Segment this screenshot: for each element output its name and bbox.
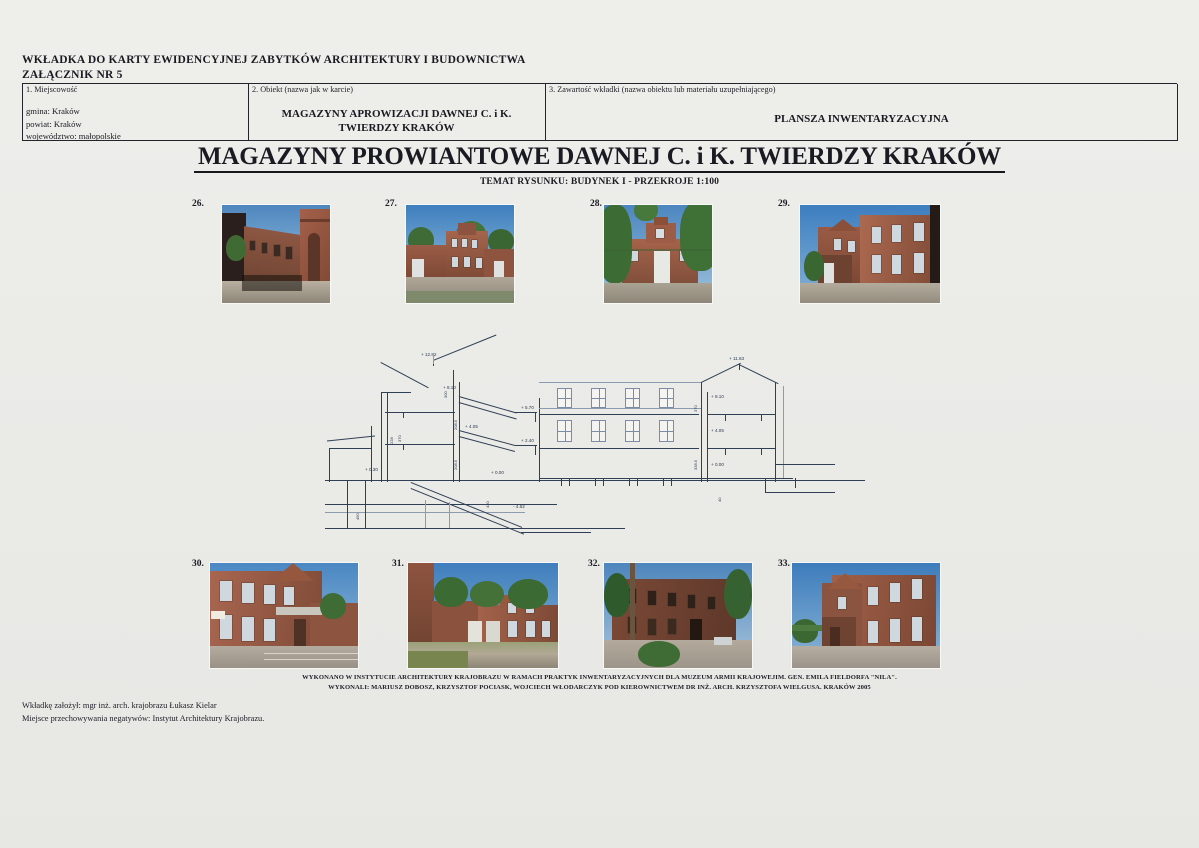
cross-section-drawing: + 12.82 + 8.10 + 5.70 + 4.05 + 2.40 + 0.… (325, 352, 865, 524)
content-value: PLANSZA INWENTARYZACYJNA (549, 112, 1174, 126)
document-header-line1: WKŁADKA DO KARTY EWIDENCYJNEJ ZABYTKÓW A… (22, 54, 525, 66)
locality-wojewodztwo: województwo: małopolskie (26, 130, 244, 143)
elevation-mark-5-70: + 5.70 (521, 405, 534, 410)
photo-number-31: 31. (392, 559, 404, 569)
page-title: MAGAZYNY PROWIANTOWE DAWNEJ C. i K. TWIE… (0, 143, 1199, 171)
elevation-mark-8-10-left: + 8.10 (443, 385, 456, 390)
dim-208-5-lower: 208.5 (453, 460, 458, 470)
photo-28 (604, 205, 712, 303)
document-header-line2: ZAŁĄCZNIK NR 5 (22, 69, 123, 81)
photo-number-28: 28. (590, 199, 602, 209)
elevation-mark-0-30: + 0.30 (365, 467, 378, 472)
header-divider-2 (545, 84, 546, 141)
object-name-line2: TWIERDZY KRAKÓW (252, 121, 541, 135)
header-cell-object: 2. Obiekt (nazwa jak w karcie) MAGAZYNY … (252, 85, 541, 140)
footer-block: Wkładkę założył: mgr inż. arch. krajobra… (22, 700, 264, 725)
dim-228: 228 (389, 437, 394, 444)
header-cell-locality-label: 1. Miejscowość (26, 85, 244, 94)
footer-line1: Wkładkę założył: mgr inż. arch. krajobra… (22, 700, 264, 713)
header-divider-left (22, 84, 23, 141)
header-cell-content: 3. Zawartość wkładki (nazwa obiektu lub … (549, 85, 1174, 140)
locality-powiat: powiat: Kraków (26, 118, 244, 131)
elevation-mark-4-05-right: + 4.05 (711, 428, 724, 433)
credits-line2: WYKONALI: MARIUSZ DOBOSZ, KRZYSZTOF POCI… (0, 683, 1199, 693)
elevation-mark-0-00-mid: + 0.00 (491, 470, 504, 475)
photo-number-29: 29. (778, 199, 790, 209)
header-cell-content-label: 3. Zawartość wkładki (nazwa obiektu lub … (549, 85, 1174, 94)
header-divider-right (1177, 84, 1178, 141)
header-cell-object-label: 2. Obiekt (nazwa jak w karcie) (252, 85, 541, 94)
elevation-mark-minus-4-62: - 4.62 (513, 504, 525, 509)
elevation-mark-12-82: + 12.82 (421, 352, 436, 357)
photo-27 (406, 205, 514, 303)
dim-208-5-upper: 208.5 (453, 420, 458, 430)
photo-number-26: 26. (192, 199, 204, 209)
photo-30 (210, 563, 358, 668)
document-sheet: WKŁADKA DO KARTY EWIDENCYJNEJ ZABYTKÓW A… (0, 0, 1199, 848)
credits-line1: WYKONANO W INSTYTUCIE ARCHITEKTURY KRAJO… (0, 673, 1199, 683)
locality-gmina: gmina: Kraków (26, 105, 244, 118)
elevation-mark-0-00-right: + 0.00 (711, 462, 724, 467)
dim-430: 430 (485, 501, 490, 508)
photo-number-32: 32. (588, 559, 600, 569)
drawing-topic: TEMAT RYSUNKU: BUDYNEK I - PRZEKROJE 1:1… (0, 176, 1199, 187)
photo-32 (604, 563, 752, 668)
elevation-mark-11-63: + 11.63 (729, 356, 744, 361)
header-divider-1 (248, 84, 249, 141)
photo-26 (222, 205, 330, 303)
photo-31 (408, 563, 558, 668)
elevation-mark-2-40: + 2.40 (521, 438, 534, 443)
footer-line2: Miejsce przechowywania negatywów: Instyt… (22, 713, 264, 726)
header-cell-locality: 1. Miejscowość gmina: Kraków powiat: Kra… (26, 85, 244, 140)
dim-370-right: 370 (693, 405, 698, 412)
elevation-mark-4-05-mid: + 4.05 (465, 424, 478, 429)
photo-33 (792, 563, 940, 668)
dim-370: 370 (397, 435, 402, 442)
photo-number-33: 33. (778, 559, 790, 569)
dim-450: 450 (355, 513, 360, 520)
photo-number-27: 27. (385, 199, 397, 209)
photo-29 (800, 205, 940, 303)
header-rule-top (22, 83, 1177, 84)
dim-338-5: 338.5 (693, 460, 698, 470)
object-name-line1: MAGAZYNY APROWIZACJI DAWNEJ C. i K. (252, 107, 541, 121)
photo-number-30: 30. (192, 559, 204, 569)
page-title-text: MAGAZYNY PROWIANTOWE DAWNEJ C. i K. TWIE… (194, 143, 1005, 173)
dim-300: 300 (443, 391, 448, 398)
dim-40: 40 (717, 498, 722, 502)
credits-block: WYKONANO W INSTYTUCIE ARCHITEKTURY KRAJO… (0, 673, 1199, 692)
elevation-mark-8-10-right: + 8.10 (711, 394, 724, 399)
